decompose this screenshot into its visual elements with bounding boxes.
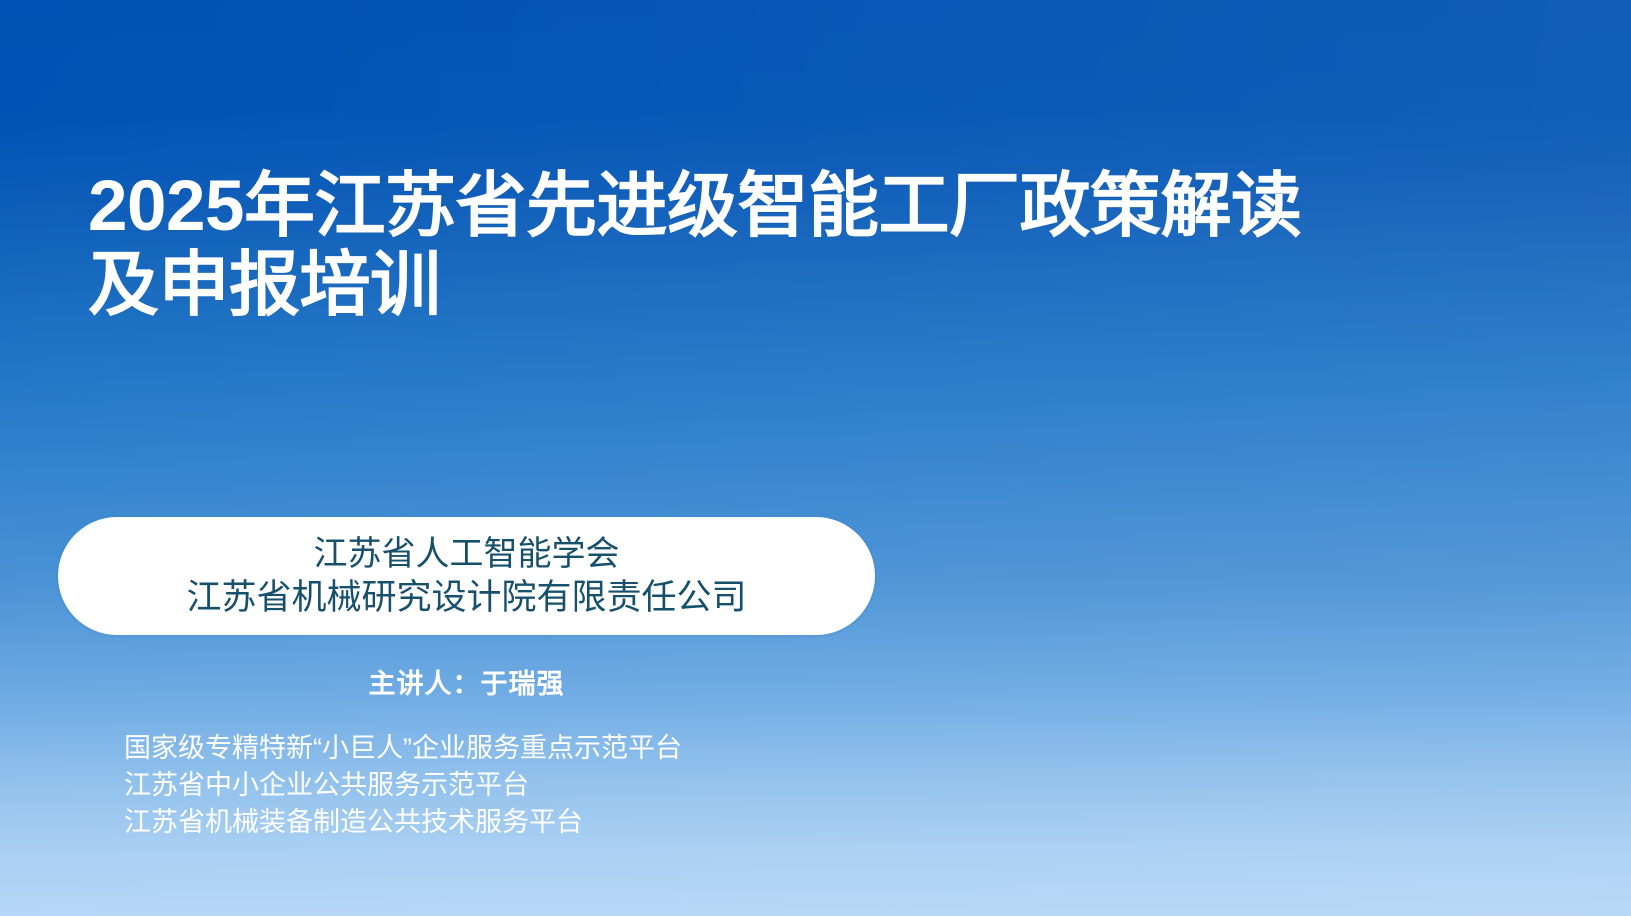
organization-name-secondary: 江苏省机械研究设计院有限责任公司	[186, 576, 746, 620]
organization-pill: 江苏省人工智能学会 江苏省机械研究设计院有限责任公司	[58, 517, 875, 635]
credential-item: 江苏省机械装备制造公共技术服务平台	[124, 804, 682, 841]
page-title-line-1: 2025年江苏省先进级智能工厂政策解读	[88, 167, 1508, 246]
speaker-label: 主讲人：于瑞强	[58, 662, 875, 701]
page-title-line-2: 及申报培训	[88, 246, 1508, 325]
credential-item: 江苏省中小企业公共服务示范平台	[124, 767, 682, 804]
title-slide: 2025年江苏省先进级智能工厂政策解读 及申报培训 江苏省人工智能学会 江苏省机…	[0, 0, 1631, 916]
credential-list: 国家级专精特新“小巨人”企业服务重点示范平台 江苏省中小企业公共服务示范平台 江…	[124, 730, 682, 841]
organization-name-primary: 江苏省人工智能学会	[314, 532, 620, 576]
page-title: 2025年江苏省先进级智能工厂政策解读 及申报培训	[88, 167, 1508, 325]
credential-item: 国家级专精特新“小巨人”企业服务重点示范平台	[124, 730, 682, 767]
